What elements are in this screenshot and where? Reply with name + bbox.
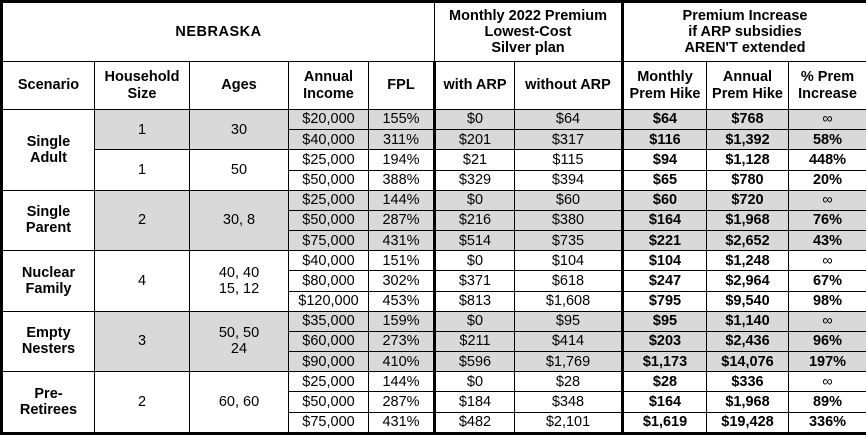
household-size-cell: 2	[95, 190, 190, 251]
table-row: EmptyNesters350, 5024$35,000159%$0$95$95…	[2, 311, 866, 331]
without-arp-cell: $618	[515, 271, 623, 291]
annual-prem-hike-cell: $1,140	[707, 311, 789, 331]
monthly-prem-hike-cell: $1,173	[623, 352, 707, 372]
annual-prem-hike-cell: $780	[707, 170, 789, 190]
monthly-prem-hike-cell: $94	[623, 150, 707, 170]
ages-cell: 30, 8	[190, 190, 289, 251]
without-arp-cell: $735	[515, 231, 623, 251]
scenario-line: Single	[7, 204, 90, 220]
annual-prem-hike-cell: $2,964	[707, 271, 789, 291]
pct-prem-increase-cell: ∞	[789, 190, 866, 210]
monthly-prem-hike-cell: $164	[623, 210, 707, 230]
annual-income-cell: $80,000	[289, 271, 369, 291]
monthly-prem-hike-cell: $65	[623, 170, 707, 190]
pct-prem-increase-cell: 20%	[789, 170, 866, 190]
household-size-cell: 3	[95, 311, 190, 372]
with-arp-cell: $216	[435, 210, 515, 230]
annual-prem-hike-cell: $1,392	[707, 130, 789, 150]
monthly-prem-hike-cell: $203	[623, 331, 707, 351]
fpl-cell: 410%	[369, 352, 435, 372]
ages-line: 30	[194, 122, 284, 138]
monthly-prem-hike-cell: $95	[623, 311, 707, 331]
without-arp-cell: $380	[515, 210, 623, 230]
column-header-scenario: Scenario	[2, 62, 95, 110]
pct-prem-increase-cell: 58%	[789, 130, 866, 150]
monthly-prem-hike-cell: $116	[623, 130, 707, 150]
pct-prem-increase-cell: ∞	[789, 110, 866, 130]
header-line: without ARP	[519, 77, 617, 93]
header-line: Annual	[711, 69, 784, 85]
household-size-cell: 2	[95, 372, 190, 434]
fpl-cell: 144%	[369, 190, 435, 210]
page-title: NEBRASKA	[2, 2, 435, 62]
ages-line: 24	[194, 341, 284, 357]
fpl-cell: 273%	[369, 331, 435, 351]
scenario-line: Nesters	[7, 341, 90, 357]
annual-prem-hike-cell: $720	[707, 190, 789, 210]
column-header-pct_prem_increase: % PremIncrease	[789, 62, 866, 110]
annual-prem-hike-cell: $1,248	[707, 251, 789, 271]
table-row: SingleAdult130$20,000155%$0$64$64$768∞	[2, 110, 866, 130]
annual-prem-hike-cell: $336	[707, 372, 789, 392]
header-line: AREN'T extended	[628, 40, 862, 56]
nebraska-premium-table: NEBRASKAMonthly 2022 PremiumLowest-CostS…	[0, 0, 866, 435]
header-line: Annual	[293, 69, 364, 85]
with-arp-cell: $0	[435, 311, 515, 331]
header-line: with ARP	[440, 77, 510, 93]
annual-income-cell: $40,000	[289, 130, 369, 150]
header-line: Premium Increase	[628, 8, 862, 24]
pct-prem-increase-cell: 76%	[789, 210, 866, 230]
fpl-cell: 302%	[369, 271, 435, 291]
annual-income-cell: $50,000	[289, 210, 369, 230]
pct-prem-increase-cell: 96%	[789, 331, 866, 351]
with-arp-cell: $482	[435, 412, 515, 433]
header-line: FPL	[373, 77, 429, 93]
monthly-prem-hike-cell: $28	[623, 372, 707, 392]
header-line: Income	[293, 86, 364, 102]
header-line: Prem Hike	[711, 86, 784, 102]
scenario-cell: SingleParent	[2, 190, 95, 251]
fpl-cell: 311%	[369, 130, 435, 150]
ages-cell: 60, 60	[190, 372, 289, 434]
annual-income-cell: $90,000	[289, 352, 369, 372]
header-line: Monthly 2022 Premium	[439, 8, 617, 24]
annual-income-cell: $50,000	[289, 170, 369, 190]
ages-line: 50, 50	[194, 325, 284, 341]
monthly-prem-hike-cell: $164	[623, 392, 707, 412]
annual-income-cell: $35,000	[289, 311, 369, 331]
annual-income-cell: $120,000	[289, 291, 369, 311]
fpl-cell: 287%	[369, 210, 435, 230]
scenario-cell: EmptyNesters	[2, 311, 95, 372]
fpl-cell: 287%	[369, 392, 435, 412]
header-line: Size	[99, 86, 185, 102]
header-line: Household	[99, 69, 185, 85]
pct-prem-increase-cell: ∞	[789, 251, 866, 271]
column-header-monthly_prem_hike: MonthlyPrem Hike	[623, 62, 707, 110]
household-size-cell: 1	[95, 150, 190, 190]
with-arp-cell: $211	[435, 331, 515, 351]
annual-prem-hike-cell: $1,968	[707, 392, 789, 412]
header-line: Silver plan	[439, 40, 617, 56]
column-header-annual_income: AnnualIncome	[289, 62, 369, 110]
header-line: % Prem	[793, 69, 862, 85]
annual-income-cell: $75,000	[289, 231, 369, 251]
annual-income-cell: $75,000	[289, 412, 369, 433]
scenario-line: Empty	[7, 325, 90, 341]
scenario-line: Adult	[7, 150, 90, 166]
annual-prem-hike-cell: $1,968	[707, 210, 789, 230]
header-line: Monthly	[628, 69, 702, 85]
scenario-line: Family	[7, 281, 90, 297]
monthly-prem-hike-cell: $221	[623, 231, 707, 251]
annual-income-cell: $25,000	[289, 150, 369, 170]
without-arp-cell: $64	[515, 110, 623, 130]
annual-prem-hike-cell: $1,128	[707, 150, 789, 170]
monthly-prem-hike-cell: $247	[623, 271, 707, 291]
annual-prem-hike-cell: $2,652	[707, 231, 789, 251]
scenario-cell: SingleAdult	[2, 110, 95, 191]
with-arp-cell: $21	[435, 150, 515, 170]
scenario-cell: Pre-Retirees	[2, 372, 95, 434]
ages-line: 50	[194, 162, 284, 178]
annual-income-cell: $50,000	[289, 392, 369, 412]
without-arp-cell: $2,101	[515, 412, 623, 433]
with-arp-cell: $371	[435, 271, 515, 291]
with-arp-cell: $0	[435, 110, 515, 130]
without-arp-cell: $95	[515, 311, 623, 331]
scenario-line: Single	[7, 134, 90, 150]
with-arp-cell: $184	[435, 392, 515, 412]
group-header-premium-increase: Premium Increaseif ARP subsidiesAREN'T e…	[623, 2, 866, 62]
pct-prem-increase-cell: 67%	[789, 271, 866, 291]
annual-income-cell: $20,000	[289, 110, 369, 130]
with-arp-cell: $0	[435, 190, 515, 210]
annual-income-cell: $60,000	[289, 331, 369, 351]
column-header-with_arp: with ARP	[435, 62, 515, 110]
annual-income-cell: $25,000	[289, 190, 369, 210]
without-arp-cell: $1,769	[515, 352, 623, 372]
with-arp-cell: $201	[435, 130, 515, 150]
with-arp-cell: $514	[435, 231, 515, 251]
annual-income-cell: $25,000	[289, 372, 369, 392]
monthly-prem-hike-cell: $60	[623, 190, 707, 210]
without-arp-cell: $394	[515, 170, 623, 190]
ages-cell: 50, 5024	[190, 311, 289, 372]
pct-prem-increase-cell: 448%	[789, 150, 866, 170]
annual-prem-hike-cell: $19,428	[707, 412, 789, 433]
pct-prem-increase-cell: 336%	[789, 412, 866, 433]
fpl-cell: 431%	[369, 412, 435, 433]
scenario-line: Retirees	[7, 402, 90, 418]
fpl-cell: 155%	[369, 110, 435, 130]
annual-prem-hike-cell: $2,436	[707, 331, 789, 351]
with-arp-cell: $0	[435, 251, 515, 271]
fpl-cell: 388%	[369, 170, 435, 190]
ages-line: 30, 8	[194, 212, 284, 228]
pct-prem-increase-cell: 98%	[789, 291, 866, 311]
header-line: Increase	[793, 86, 862, 102]
fpl-cell: 431%	[369, 231, 435, 251]
without-arp-cell: $60	[515, 190, 623, 210]
ages-cell: 30	[190, 110, 289, 150]
table-row: 150$25,000194%$21$115$94$1,128448%	[2, 150, 866, 170]
pct-prem-increase-cell: 89%	[789, 392, 866, 412]
column-header-fpl: FPL	[369, 62, 435, 110]
ages-line: 60, 60	[194, 394, 284, 410]
group-header-monthly-premium: Monthly 2022 PremiumLowest-CostSilver pl…	[435, 2, 623, 62]
pct-prem-increase-cell: ∞	[789, 372, 866, 392]
monthly-prem-hike-cell: $795	[623, 291, 707, 311]
pct-prem-increase-cell: ∞	[789, 311, 866, 331]
household-size-cell: 4	[95, 251, 190, 312]
header-line: Scenario	[7, 77, 90, 93]
monthly-prem-hike-cell: $64	[623, 110, 707, 130]
ages-cell: 50	[190, 150, 289, 190]
annual-prem-hike-cell: $9,540	[707, 291, 789, 311]
pct-prem-increase-cell: 43%	[789, 231, 866, 251]
without-arp-cell: $28	[515, 372, 623, 392]
household-size-cell: 1	[95, 110, 190, 150]
scenario-cell: NuclearFamily	[2, 251, 95, 312]
pct-prem-increase-cell: 197%	[789, 352, 866, 372]
ages-line: 15, 12	[194, 281, 284, 297]
header-line: Ages	[194, 77, 284, 93]
without-arp-cell: $115	[515, 150, 623, 170]
without-arp-cell: $104	[515, 251, 623, 271]
column-header-ages: Ages	[190, 62, 289, 110]
ages-cell: 40, 4015, 12	[190, 251, 289, 312]
title-row: NEBRASKAMonthly 2022 PremiumLowest-CostS…	[2, 2, 866, 62]
table-row: SingleParent230, 8$25,000144%$0$60$60$72…	[2, 190, 866, 210]
annual-prem-hike-cell: $14,076	[707, 352, 789, 372]
column-header-without_arp: without ARP	[515, 62, 623, 110]
header-line: Prem Hike	[628, 86, 702, 102]
monthly-prem-hike-cell: $1,619	[623, 412, 707, 433]
scenario-line: Parent	[7, 220, 90, 236]
without-arp-cell: $1,608	[515, 291, 623, 311]
annual-prem-hike-cell: $768	[707, 110, 789, 130]
with-arp-cell: $596	[435, 352, 515, 372]
monthly-prem-hike-cell: $104	[623, 251, 707, 271]
column-header-annual_prem_hike: AnnualPrem Hike	[707, 62, 789, 110]
fpl-cell: 144%	[369, 372, 435, 392]
fpl-cell: 453%	[369, 291, 435, 311]
header-line: Lowest-Cost	[439, 24, 617, 40]
with-arp-cell: $813	[435, 291, 515, 311]
annual-income-cell: $40,000	[289, 251, 369, 271]
scenario-line: Nuclear	[7, 265, 90, 281]
fpl-cell: 159%	[369, 311, 435, 331]
scenario-line: Pre-	[7, 386, 90, 402]
premium-table-sheet: NEBRASKAMonthly 2022 PremiumLowest-CostS…	[0, 0, 866, 435]
table-row: Pre-Retirees260, 60$25,000144%$0$28$28$3…	[2, 372, 866, 392]
column-header-household_size: HouseholdSize	[95, 62, 190, 110]
without-arp-cell: $317	[515, 130, 623, 150]
without-arp-cell: $414	[515, 331, 623, 351]
header-line: if ARP subsidies	[628, 24, 862, 40]
table-row: NuclearFamily440, 4015, 12$40,000151%$0$…	[2, 251, 866, 271]
with-arp-cell: $329	[435, 170, 515, 190]
without-arp-cell: $348	[515, 392, 623, 412]
fpl-cell: 151%	[369, 251, 435, 271]
ages-line: 40, 40	[194, 265, 284, 281]
with-arp-cell: $0	[435, 372, 515, 392]
column-header-row: ScenarioHouseholdSizeAgesAnnualIncomeFPL…	[2, 62, 866, 110]
fpl-cell: 194%	[369, 150, 435, 170]
